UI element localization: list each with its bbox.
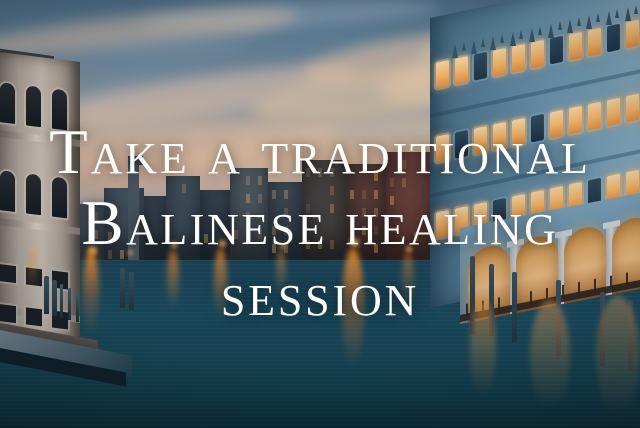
- reflection-streak: [470, 300, 496, 398]
- reflection-streak: [28, 252, 37, 292]
- reflection-streak: [402, 252, 414, 308]
- light-reflections: [0, 0, 640, 428]
- reflection-streak: [596, 296, 640, 416]
- reflection-streak: [83, 250, 99, 336]
- reflection-streak: [276, 250, 286, 298]
- reflection-streak: [214, 248, 227, 320]
- reflection-streak: [167, 250, 179, 310]
- reflection-streak: [342, 248, 364, 368]
- reflection-streak: [530, 300, 570, 410]
- poster-image: Take a traditional Balinese healing sess…: [0, 0, 640, 428]
